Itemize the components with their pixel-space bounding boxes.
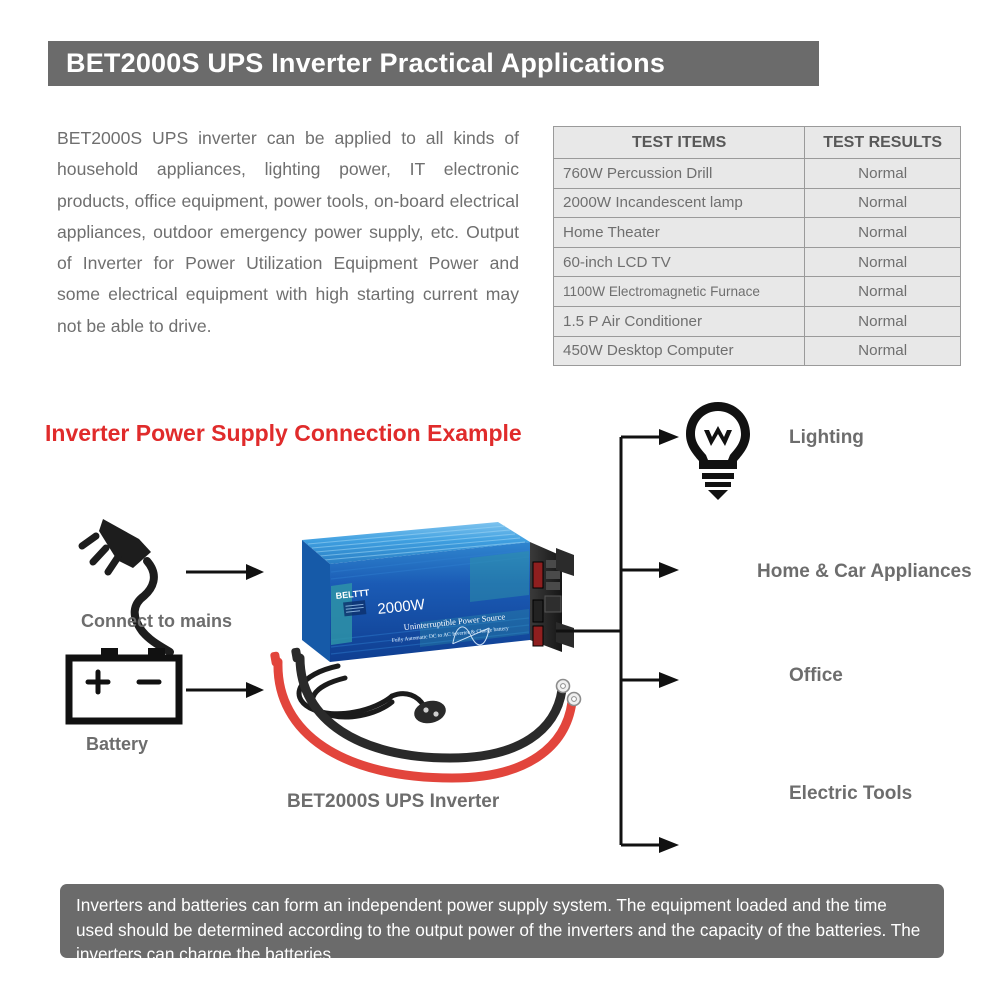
table-row: 2000W Incandescent lamp Normal <box>554 188 961 218</box>
cell-test-result: Normal <box>805 218 961 248</box>
label-battery: Battery <box>86 734 148 755</box>
table-row: 760W Percussion Drill Normal <box>554 159 961 189</box>
device-caption: BET2000S UPS Inverter <box>287 791 499 813</box>
cell-test-result: Normal <box>805 336 961 366</box>
cell-test-item: Home Theater <box>554 218 805 248</box>
cell-test-item: 760W Percussion Drill <box>554 159 805 189</box>
output-arrowheads <box>659 429 679 853</box>
footer-note: Inverters and batteries can form an inde… <box>76 893 928 967</box>
label-home-car-appliances: Home & Car Appliances <box>757 561 972 583</box>
infographic-page: BET2000S UPS Inverter Practical Applicat… <box>0 0 1000 1000</box>
table-row: Home Theater Normal <box>554 218 961 248</box>
intro-paragraph: BET2000S UPS inverter can be applied to … <box>57 123 519 342</box>
cell-test-item: 1.5 P Air Conditioner <box>554 306 805 336</box>
test-results-table: TEST ITEMS TEST RESULTS 760W Percussion … <box>553 126 961 366</box>
cell-test-item: 1100W Electromagnetic Furnace <box>554 277 805 307</box>
cell-test-item: 2000W Incandescent lamp <box>554 188 805 218</box>
cell-test-result: Normal <box>805 306 961 336</box>
arrow-mains-to-inverter <box>186 564 264 580</box>
battery-icon <box>69 648 179 721</box>
inverter-device: BELTTT 2000W Uninterruptible Power Sourc… <box>302 522 574 662</box>
column-header-test-results: TEST RESULTS <box>805 127 961 159</box>
page-title-banner: BET2000S UPS Inverter Practical Applicat… <box>48 41 819 86</box>
table-row: 450W Desktop Computer Normal <box>554 336 961 366</box>
arrow-battery-to-inverter <box>186 682 264 698</box>
cable-terminal-lugs <box>270 647 581 705</box>
label-electric-tools: Electric Tools <box>789 783 912 805</box>
footer-banner: Inverters and batteries can form an inde… <box>60 884 944 958</box>
label-office: Office <box>789 665 843 687</box>
cell-test-result: Normal <box>805 159 961 189</box>
label-lighting: Lighting <box>789 427 864 449</box>
cell-test-result: Normal <box>805 277 961 307</box>
light-bulb-icon <box>686 402 750 500</box>
cell-test-item: 60-inch LCD TV <box>554 247 805 277</box>
cell-test-result: Normal <box>805 188 961 218</box>
cell-test-item: 450W Desktop Computer <box>554 336 805 366</box>
page-title: BET2000S UPS Inverter Practical Applicat… <box>66 48 665 79</box>
label-connect-to-mains: Connect to mains <box>81 611 232 632</box>
table-row: 1.5 P Air Conditioner Normal <box>554 306 961 336</box>
cell-test-result: Normal <box>805 247 961 277</box>
table-header-row: TEST ITEMS TEST RESULTS <box>554 127 961 159</box>
connection-diagram: BELTTT 2000W Uninterruptible Power Sourc… <box>0 390 1000 880</box>
power-plug-icon <box>82 519 170 652</box>
column-header-test-items: TEST ITEMS <box>554 127 805 159</box>
table-row: 1100W Electromagnetic Furnace Normal <box>554 277 961 307</box>
table-row: 60-inch LCD TV Normal <box>554 247 961 277</box>
ac-plug-head <box>412 698 448 726</box>
